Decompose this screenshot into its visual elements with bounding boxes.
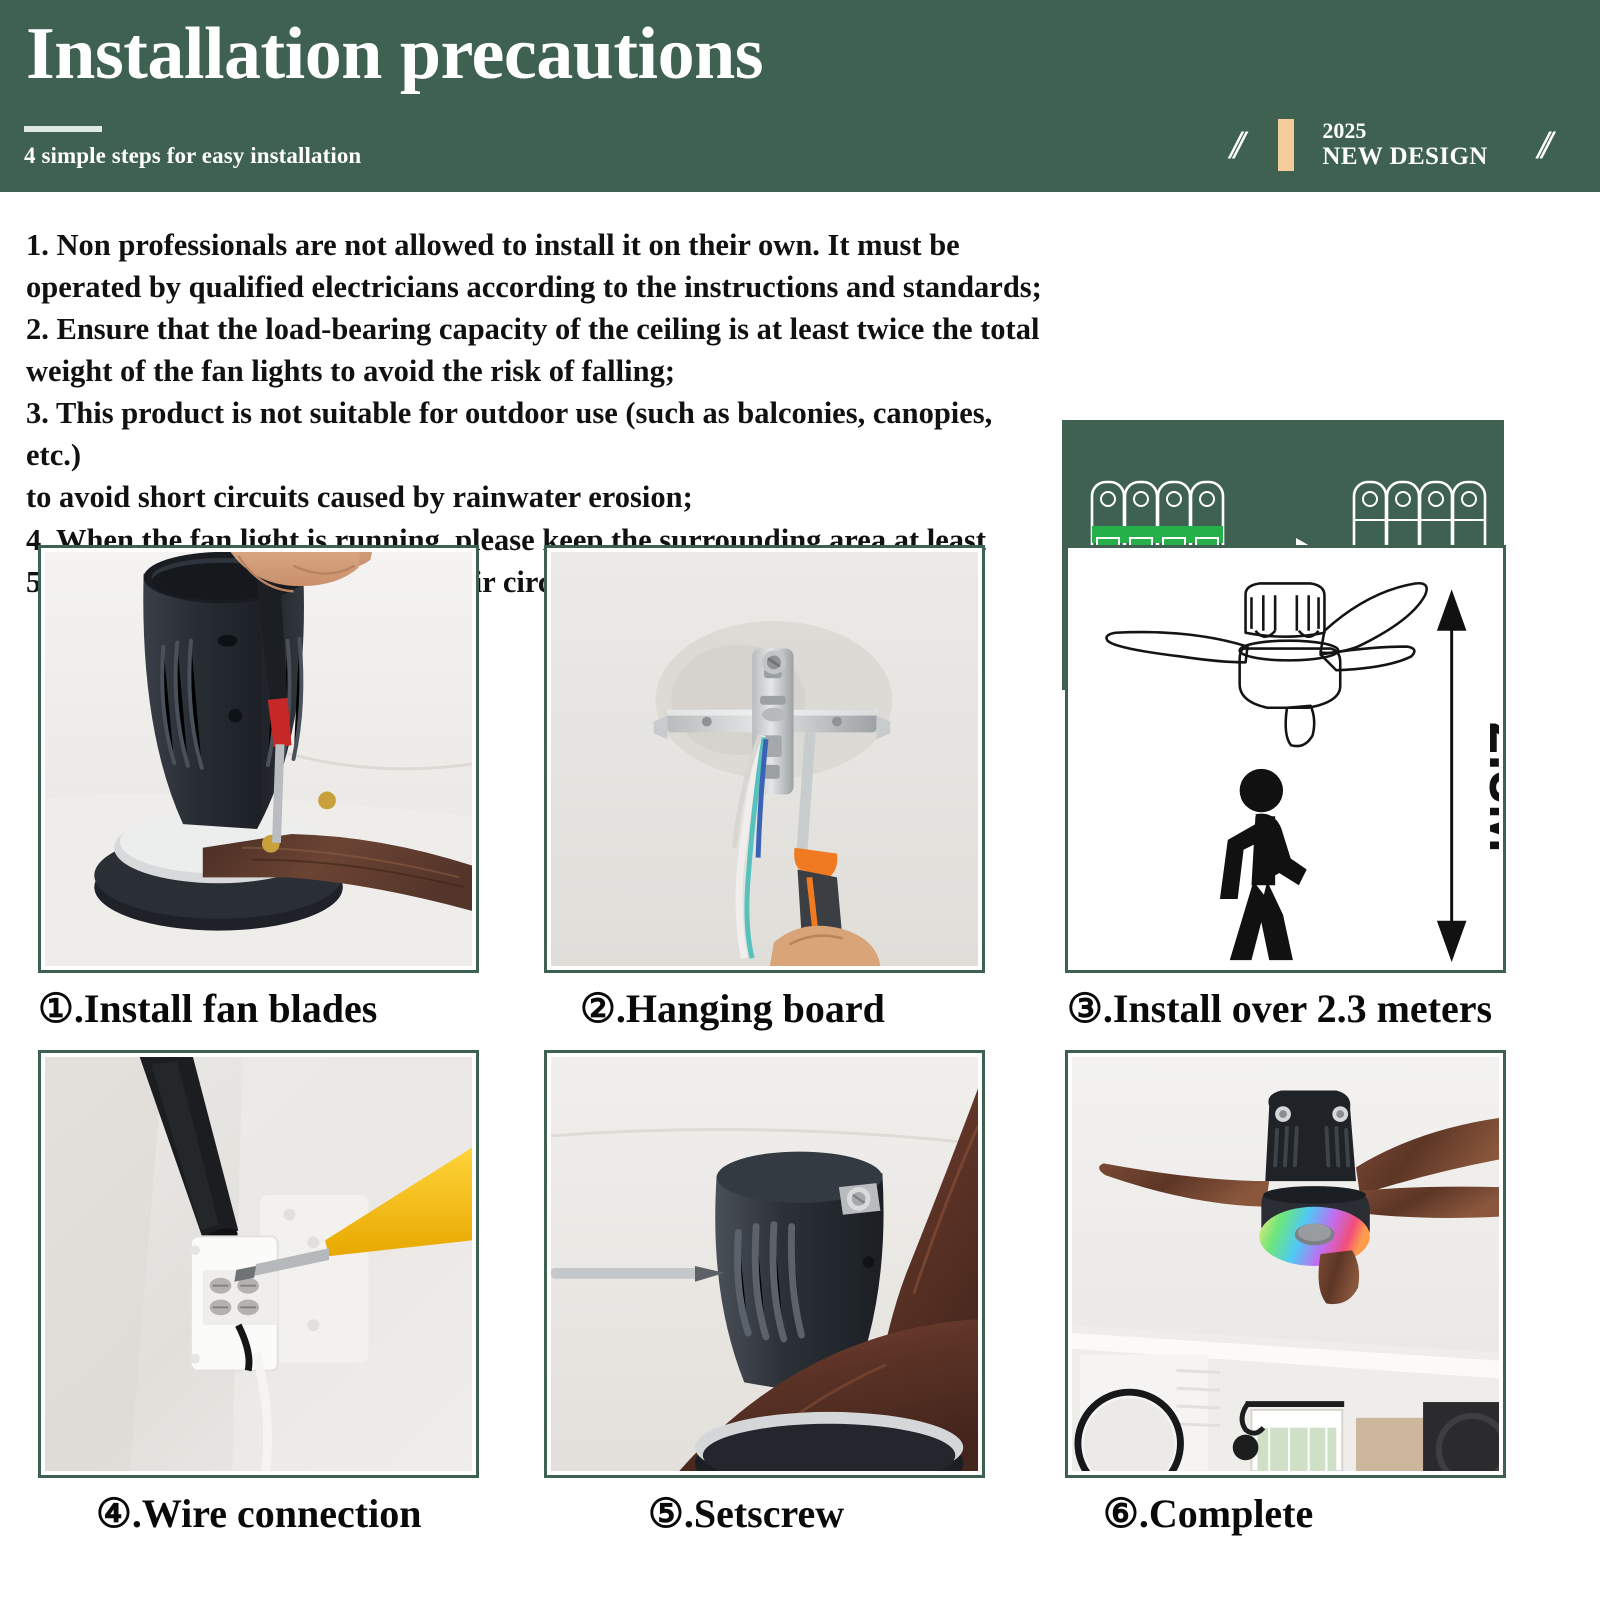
- page-header: Installation precautions 4 simple steps …: [0, 0, 1600, 192]
- step-caption-4: ④.Wire connection: [38, 1492, 479, 1536]
- clearance-diagram: 2.3M: [1072, 552, 1499, 966]
- step-card-5: ⑤.Setscrew: [544, 1050, 985, 1536]
- step-card-2: ②.Hanging board: [544, 545, 985, 1031]
- steps-row-top: ①.Install fan blades: [0, 545, 1600, 1050]
- orange-accent-bar: [1278, 119, 1294, 171]
- step-caption-1: ①.Install fan blades: [38, 987, 479, 1031]
- step-photo-3: 2.3M: [1065, 545, 1506, 973]
- step-photo-1: [38, 545, 479, 973]
- step-photo-4: [38, 1050, 479, 1478]
- badge-year: 2025: [1322, 119, 1487, 144]
- setscrew-photo: [551, 1057, 978, 1471]
- steps-row-bottom: ④.Wire connection: [0, 1050, 1600, 1555]
- slash-left-icon: //: [1228, 125, 1240, 165]
- badge-text-group: 2025 NEW DESIGN: [1322, 119, 1487, 172]
- hanging-board-photo: [551, 552, 978, 966]
- wire-connection-photo: [45, 1057, 472, 1471]
- step-photo-5: [544, 1050, 985, 1478]
- step-card-1: ①.Install fan blades: [38, 545, 479, 1031]
- badge-label: NEW DESIGN: [1322, 143, 1487, 171]
- step-photo-2: [544, 545, 985, 973]
- header-badge: // 2025 NEW DESIGN //: [1228, 112, 1548, 178]
- step-caption-2: ②.Hanging board: [544, 987, 985, 1031]
- steps-grid: ①.Install fan blades: [0, 545, 1600, 1555]
- step-card-6: ⑥.Complete: [1065, 1050, 1506, 1536]
- step-caption-6: ⑥.Complete: [1065, 1492, 1506, 1536]
- page-title: Installation precautions: [26, 14, 763, 95]
- dimension-label: 2.3M: [1477, 722, 1499, 854]
- step-card-4: ④.Wire connection: [38, 1050, 479, 1536]
- slash-right-icon: //: [1536, 125, 1548, 165]
- step-card-3: 2.3M ③.Install over 2.3 meters: [1065, 545, 1506, 1031]
- step-photo-6: [1065, 1050, 1506, 1478]
- title-underline-rule: [24, 126, 102, 132]
- complete-photo: [1072, 1057, 1499, 1471]
- step-caption-3: ③.Install over 2.3 meters: [1065, 987, 1506, 1031]
- step-caption-5: ⑤.Setscrew: [544, 1492, 985, 1536]
- fan-motor-housing-photo: [45, 552, 472, 966]
- page-subtitle: 4 simple steps for easy installation: [24, 143, 361, 169]
- intro-section: 1. Non professionals are not allowed to …: [0, 192, 1600, 522]
